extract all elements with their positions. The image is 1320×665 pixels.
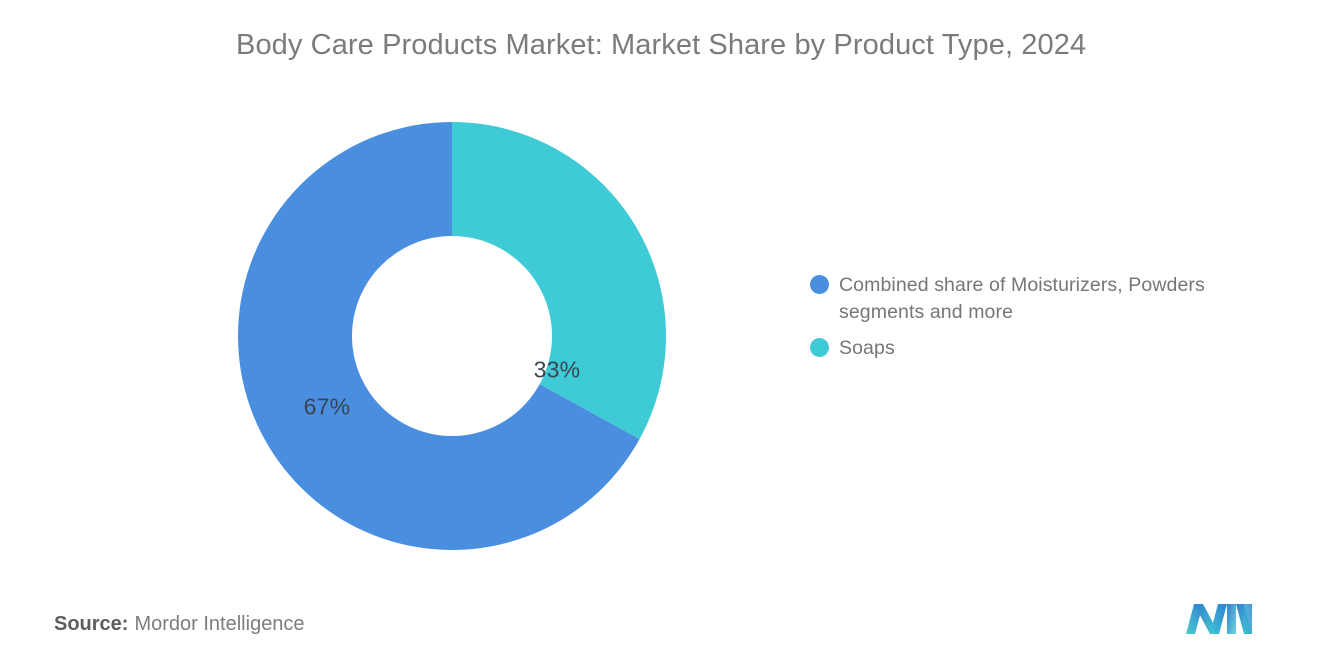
donut-chart-svg bbox=[238, 122, 666, 550]
legend-swatch-icon-soaps bbox=[810, 338, 829, 357]
legend-item-combined[interactable]: Combined share of Moisturizers, Powders … bbox=[810, 272, 1280, 326]
logo-svg bbox=[1186, 600, 1252, 638]
legend-item-soaps[interactable]: Soaps bbox=[810, 335, 1280, 362]
legend-label-soaps: Soaps bbox=[839, 335, 895, 362]
donut-label-soaps: 33% bbox=[534, 357, 581, 384]
chart-title: Body Care Products Market: Market Share … bbox=[236, 29, 1236, 62]
legend-label-combined: Combined share of Moisturizers, Powders … bbox=[839, 272, 1269, 326]
chart-legend: Combined share of Moisturizers, Powders … bbox=[810, 272, 1280, 371]
legend-swatch-icon-combined bbox=[810, 275, 829, 294]
source-line: Source:Mordor Intelligence bbox=[54, 613, 305, 636]
mordor-intelligence-logo-icon bbox=[1186, 600, 1252, 638]
donut-chart: 33% 67% bbox=[238, 122, 666, 550]
chart-canvas: Body Care Products Market: Market Share … bbox=[0, 0, 1320, 665]
donut-label-combined: 67% bbox=[304, 394, 351, 421]
donut-hole bbox=[352, 236, 552, 436]
source-label: Source: bbox=[54, 613, 128, 635]
source-value: Mordor Intelligence bbox=[134, 613, 304, 635]
